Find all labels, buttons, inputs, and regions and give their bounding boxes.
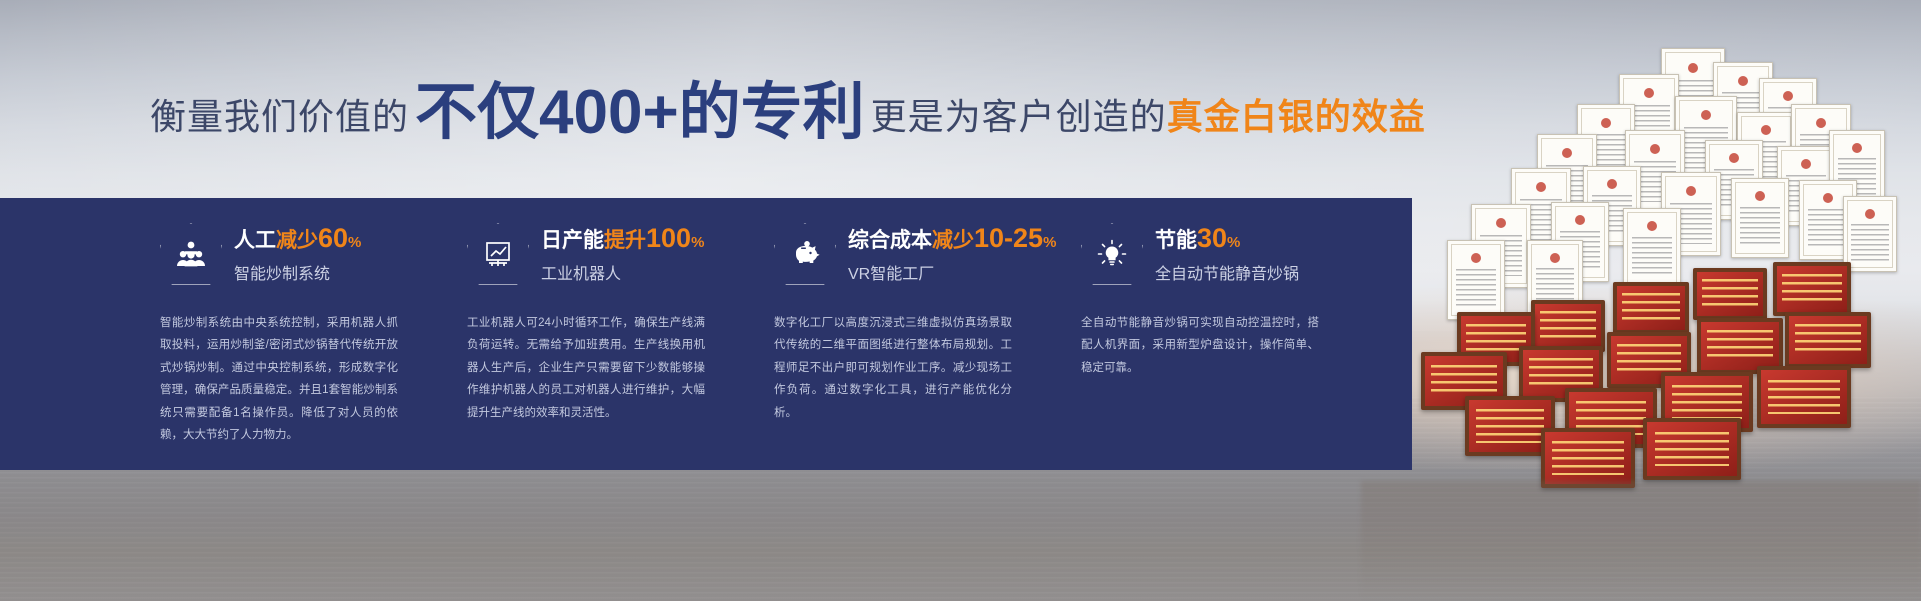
certificate-text-lines bbox=[1592, 195, 1632, 234]
feature-body: 工业机器人可24小时循环工作，确保生产线满负荷运转。无需给予加班费用。生产线换用… bbox=[467, 312, 705, 424]
certificate-seal bbox=[1688, 63, 1698, 73]
certificate-seal bbox=[1471, 253, 1481, 263]
page-title: 衡量我们价值的 不仅400+的专利 更是为客户创造的 真金白银的效益 bbox=[150, 78, 1426, 140]
certificate-seal bbox=[1650, 144, 1660, 154]
certificate-text-lines bbox=[1480, 235, 1522, 276]
certificate-item bbox=[1551, 202, 1609, 282]
certificate-text-lines bbox=[1714, 169, 1754, 208]
certificate-seal bbox=[1755, 191, 1765, 201]
certificate-text-lines bbox=[1546, 165, 1588, 206]
feature-title-unit: % bbox=[691, 234, 704, 251]
certificate-text-lines bbox=[1746, 141, 1786, 180]
certificate-item bbox=[1759, 78, 1817, 158]
feature-title-plain: 综合成本 bbox=[848, 229, 932, 252]
award-plaque bbox=[1697, 318, 1783, 374]
certificate-text-lines bbox=[1536, 268, 1575, 306]
plaque-face bbox=[1697, 272, 1763, 316]
certificate-seal bbox=[1550, 253, 1560, 263]
certificate-text-lines bbox=[1800, 134, 1842, 174]
certificate-text-lines bbox=[1838, 158, 1877, 196]
plaque-face bbox=[1545, 432, 1631, 484]
plaque-engraving bbox=[1529, 358, 1593, 389]
plaque-face bbox=[1611, 336, 1687, 384]
certificate-item bbox=[1537, 134, 1597, 218]
certificate-item bbox=[1829, 130, 1885, 208]
feature-title: 日产能提升100% bbox=[541, 224, 704, 254]
certificate-text-lines bbox=[1670, 203, 1712, 244]
certificate-text-lines bbox=[1632, 237, 1672, 276]
feature-title-accent: 减少 bbox=[932, 229, 974, 252]
certificate-seal bbox=[1761, 125, 1771, 135]
award-plaque bbox=[1541, 428, 1635, 488]
award-plaque bbox=[1607, 332, 1691, 388]
certificate-seal bbox=[1729, 153, 1739, 163]
feature-title: 节能30% bbox=[1155, 224, 1299, 254]
certificate-item bbox=[1661, 48, 1725, 136]
certificate-item bbox=[1577, 104, 1635, 186]
certificate-item bbox=[1675, 96, 1737, 182]
feature-header: 人工减少60%智能炒制系统 bbox=[160, 220, 415, 288]
certificate-text-lines bbox=[1520, 199, 1562, 240]
plaque-engraving bbox=[1476, 409, 1544, 443]
feature-item: 人工减少60%智能炒制系统智能炒制系统由中央系统控制，采用机器人抓取投料，运用炒… bbox=[160, 198, 415, 470]
certificate-item bbox=[1511, 168, 1571, 252]
headline-lead: 衡量我们价值的 bbox=[150, 99, 409, 135]
plaque-engraving bbox=[1552, 441, 1623, 475]
award-plaque bbox=[1613, 282, 1689, 334]
plaque-engraving bbox=[1540, 311, 1596, 340]
plaque-engraving bbox=[1655, 432, 1730, 467]
chart-board-icon bbox=[467, 223, 529, 285]
certificate-item bbox=[1527, 240, 1583, 318]
certificate-text-lines bbox=[1560, 231, 1600, 270]
certificate-seal bbox=[1816, 118, 1826, 128]
feature-title-number: 10-25 bbox=[974, 223, 1043, 253]
certificate-item bbox=[1619, 74, 1679, 158]
certificate-seal bbox=[1647, 221, 1657, 231]
plaque-face bbox=[1789, 316, 1867, 364]
headline-accent: 真金白银的效益 bbox=[1167, 99, 1426, 135]
certificate-seal bbox=[1536, 182, 1546, 192]
certificate-text-lines bbox=[1671, 80, 1716, 123]
certificate-item bbox=[1843, 196, 1897, 272]
plaque-engraving bbox=[1576, 401, 1646, 435]
feature-subtitle: 智能炒制系统 bbox=[234, 260, 361, 284]
award-plaque bbox=[1531, 300, 1605, 352]
plaque-face bbox=[1523, 350, 1599, 398]
certificate-seal bbox=[1801, 159, 1811, 169]
feature-body: 数字化工厂以高度沉浸式三维虚拟仿真场景取代传统的二维平面图纸进行整体布局规划。工… bbox=[774, 312, 1012, 424]
plaque-face bbox=[1665, 376, 1749, 428]
plaque-face bbox=[1761, 370, 1847, 424]
feature-title-plain: 节能 bbox=[1155, 229, 1197, 252]
feature-text: 节能30%全自动节能静音炒锅 bbox=[1155, 224, 1299, 285]
feature-title-plain: 人工 bbox=[234, 229, 276, 252]
feature-title: 综合成本减少10-25% bbox=[848, 224, 1029, 254]
certificate-text-lines bbox=[1456, 269, 1496, 308]
certificate-item bbox=[1623, 208, 1681, 288]
feature-header: 日产能提升100%工业机器人 bbox=[467, 220, 722, 288]
certificate-seal bbox=[1607, 179, 1617, 189]
award-plaque bbox=[1643, 418, 1741, 480]
award-plaque bbox=[1757, 366, 1851, 428]
award-plaque bbox=[1693, 268, 1767, 320]
icon-glyph bbox=[774, 223, 836, 285]
certificate-text-lines bbox=[1586, 134, 1626, 174]
certificate-item bbox=[1705, 140, 1763, 220]
certificate-item bbox=[1625, 130, 1685, 214]
plaque-face bbox=[1461, 316, 1531, 362]
plaque-engraving bbox=[1466, 324, 1525, 354]
feature-title-unit: % bbox=[348, 234, 361, 251]
plaque-face bbox=[1425, 356, 1503, 406]
certificate-wall bbox=[1361, 0, 1921, 601]
certificate-seal bbox=[1701, 110, 1711, 120]
team-people-icon bbox=[160, 223, 222, 285]
headline-middle: 更是为客户创造的 bbox=[871, 99, 1167, 135]
plaque-engraving bbox=[1431, 365, 1496, 398]
certificate-text-lines bbox=[1808, 209, 1848, 248]
feature-list: 人工减少60%智能炒制系统智能炒制系统由中央系统控制，采用机器人抓取投料，运用炒… bbox=[160, 198, 1412, 470]
plaque-face bbox=[1535, 304, 1601, 348]
plaque-engraving bbox=[1782, 274, 1841, 304]
certificate-item bbox=[1791, 104, 1851, 186]
certificate-item bbox=[1471, 204, 1531, 288]
certificate-text-lines bbox=[1634, 161, 1676, 202]
feature-title-accent: 减少 bbox=[276, 229, 318, 252]
certificate-reflection bbox=[1361, 481, 1921, 601]
certificate-text-lines bbox=[1628, 105, 1670, 146]
plaque-face bbox=[1569, 392, 1653, 444]
plaque-face bbox=[1701, 322, 1779, 370]
feature-text: 综合成本减少10-25%VR智能工厂 bbox=[848, 224, 1029, 285]
icon-glyph bbox=[467, 223, 529, 285]
certificate-seal bbox=[1562, 148, 1572, 158]
award-plaque bbox=[1519, 346, 1603, 402]
feature-text: 人工减少60%智能炒制系统 bbox=[234, 224, 361, 285]
certificate-seal bbox=[1496, 218, 1506, 228]
certificate-seal bbox=[1575, 215, 1585, 225]
plaque-engraving bbox=[1672, 385, 1742, 419]
plaque-engraving bbox=[1707, 330, 1772, 361]
certificate-seal bbox=[1865, 209, 1875, 219]
award-plaque bbox=[1661, 372, 1753, 432]
certificate-seal bbox=[1783, 91, 1793, 101]
headline-emphasis: 不仅400+的专利 bbox=[415, 82, 865, 144]
award-plaque bbox=[1421, 352, 1507, 410]
feature-body: 智能炒制系统由中央系统控制，采用机器人抓取投料，运用炒制釜/密闭式炒锅替代传统开… bbox=[160, 312, 398, 447]
feature-item: 日产能提升100%工业机器人工业机器人可24小时循环工作，确保生产线满负荷运转。… bbox=[467, 198, 722, 470]
certificate-item bbox=[1713, 62, 1773, 144]
certificate-text-lines bbox=[1722, 92, 1764, 132]
plaque-engraving bbox=[1795, 324, 1860, 355]
certificate-text-lines bbox=[1684, 127, 1727, 169]
certificate-seal bbox=[1644, 88, 1654, 98]
certificate-item bbox=[1661, 172, 1721, 256]
award-plaque bbox=[1465, 396, 1555, 456]
certificate-item bbox=[1737, 112, 1795, 192]
feature-title-unit: % bbox=[1227, 234, 1240, 251]
plaque-face bbox=[1647, 422, 1737, 476]
piggy-bank-icon bbox=[774, 223, 836, 285]
feature-subtitle: VR智能工厂 bbox=[848, 260, 1029, 284]
certificate-seal bbox=[1852, 143, 1862, 153]
feature-title-number: 100 bbox=[646, 223, 691, 253]
feature-title-unit: % bbox=[1043, 234, 1056, 251]
certificate-seal bbox=[1601, 118, 1611, 128]
certificate-item bbox=[1583, 166, 1641, 246]
feature-subtitle: 工业机器人 bbox=[541, 260, 704, 284]
plaque-engraving bbox=[1622, 293, 1680, 322]
award-plaque bbox=[1785, 312, 1871, 368]
feature-header: 综合成本减少10-25%VR智能工厂 bbox=[774, 220, 1029, 288]
feature-header: 节能30%全自动节能静音炒锅 bbox=[1081, 220, 1336, 288]
feature-body: 全自动节能静音炒锅可实现自动控温控时，搭配人机界面，采用新型炉盘设计，操作简单、… bbox=[1081, 312, 1319, 379]
certificate-item bbox=[1777, 146, 1835, 226]
icon-glyph bbox=[1081, 223, 1143, 285]
certificate-item bbox=[1799, 180, 1857, 260]
promo-banner: 衡量我们价值的 不仅400+的专利 更是为客户创造的 真金白银的效益 人工减少6… bbox=[0, 0, 1921, 601]
certificate-text-lines bbox=[1851, 224, 1888, 261]
feature-item: 综合成本减少10-25%VR智能工厂数字化工厂以高度沉浸式三维虚拟仿真场景取代传… bbox=[774, 198, 1029, 470]
award-plaque bbox=[1773, 262, 1851, 316]
feature-panel: 人工减少60%智能炒制系统智能炒制系统由中央系统控制，采用机器人抓取投料，运用炒… bbox=[0, 198, 1412, 470]
feature-title-number: 60 bbox=[318, 223, 348, 253]
feature-title-plain: 日产能 bbox=[541, 229, 604, 252]
plaque-face bbox=[1617, 286, 1685, 330]
plaque-face bbox=[1469, 400, 1551, 452]
award-plaque bbox=[1565, 388, 1657, 448]
feature-title: 人工减少60% bbox=[234, 224, 361, 254]
light-bulb-icon bbox=[1081, 223, 1143, 285]
icon-glyph bbox=[160, 223, 222, 285]
award-plaque bbox=[1457, 312, 1535, 366]
plaque-engraving bbox=[1617, 344, 1681, 375]
certificate-item bbox=[1447, 240, 1505, 320]
feature-title-number: 30 bbox=[1197, 223, 1227, 253]
plaque-engraving bbox=[1702, 279, 1758, 308]
certificate-text-lines bbox=[1786, 175, 1826, 214]
certificate-text-lines bbox=[1740, 207, 1780, 246]
feature-text: 日产能提升100%工业机器人 bbox=[541, 224, 704, 285]
certificate-seal bbox=[1738, 76, 1748, 86]
certificate-seal bbox=[1686, 186, 1696, 196]
feature-item: 节能30%全自动节能静音炒锅全自动节能静音炒锅可实现自动控温控时，搭配人机界面，… bbox=[1081, 198, 1336, 470]
feature-title-accent: 提升 bbox=[604, 229, 646, 252]
plaque-face bbox=[1777, 266, 1847, 312]
certificate-text-lines bbox=[1768, 107, 1808, 146]
plaque-engraving bbox=[1768, 380, 1839, 415]
certificate-item bbox=[1731, 178, 1789, 258]
feature-subtitle: 全自动节能静音炒锅 bbox=[1155, 260, 1299, 284]
certificate-seal bbox=[1823, 193, 1833, 203]
